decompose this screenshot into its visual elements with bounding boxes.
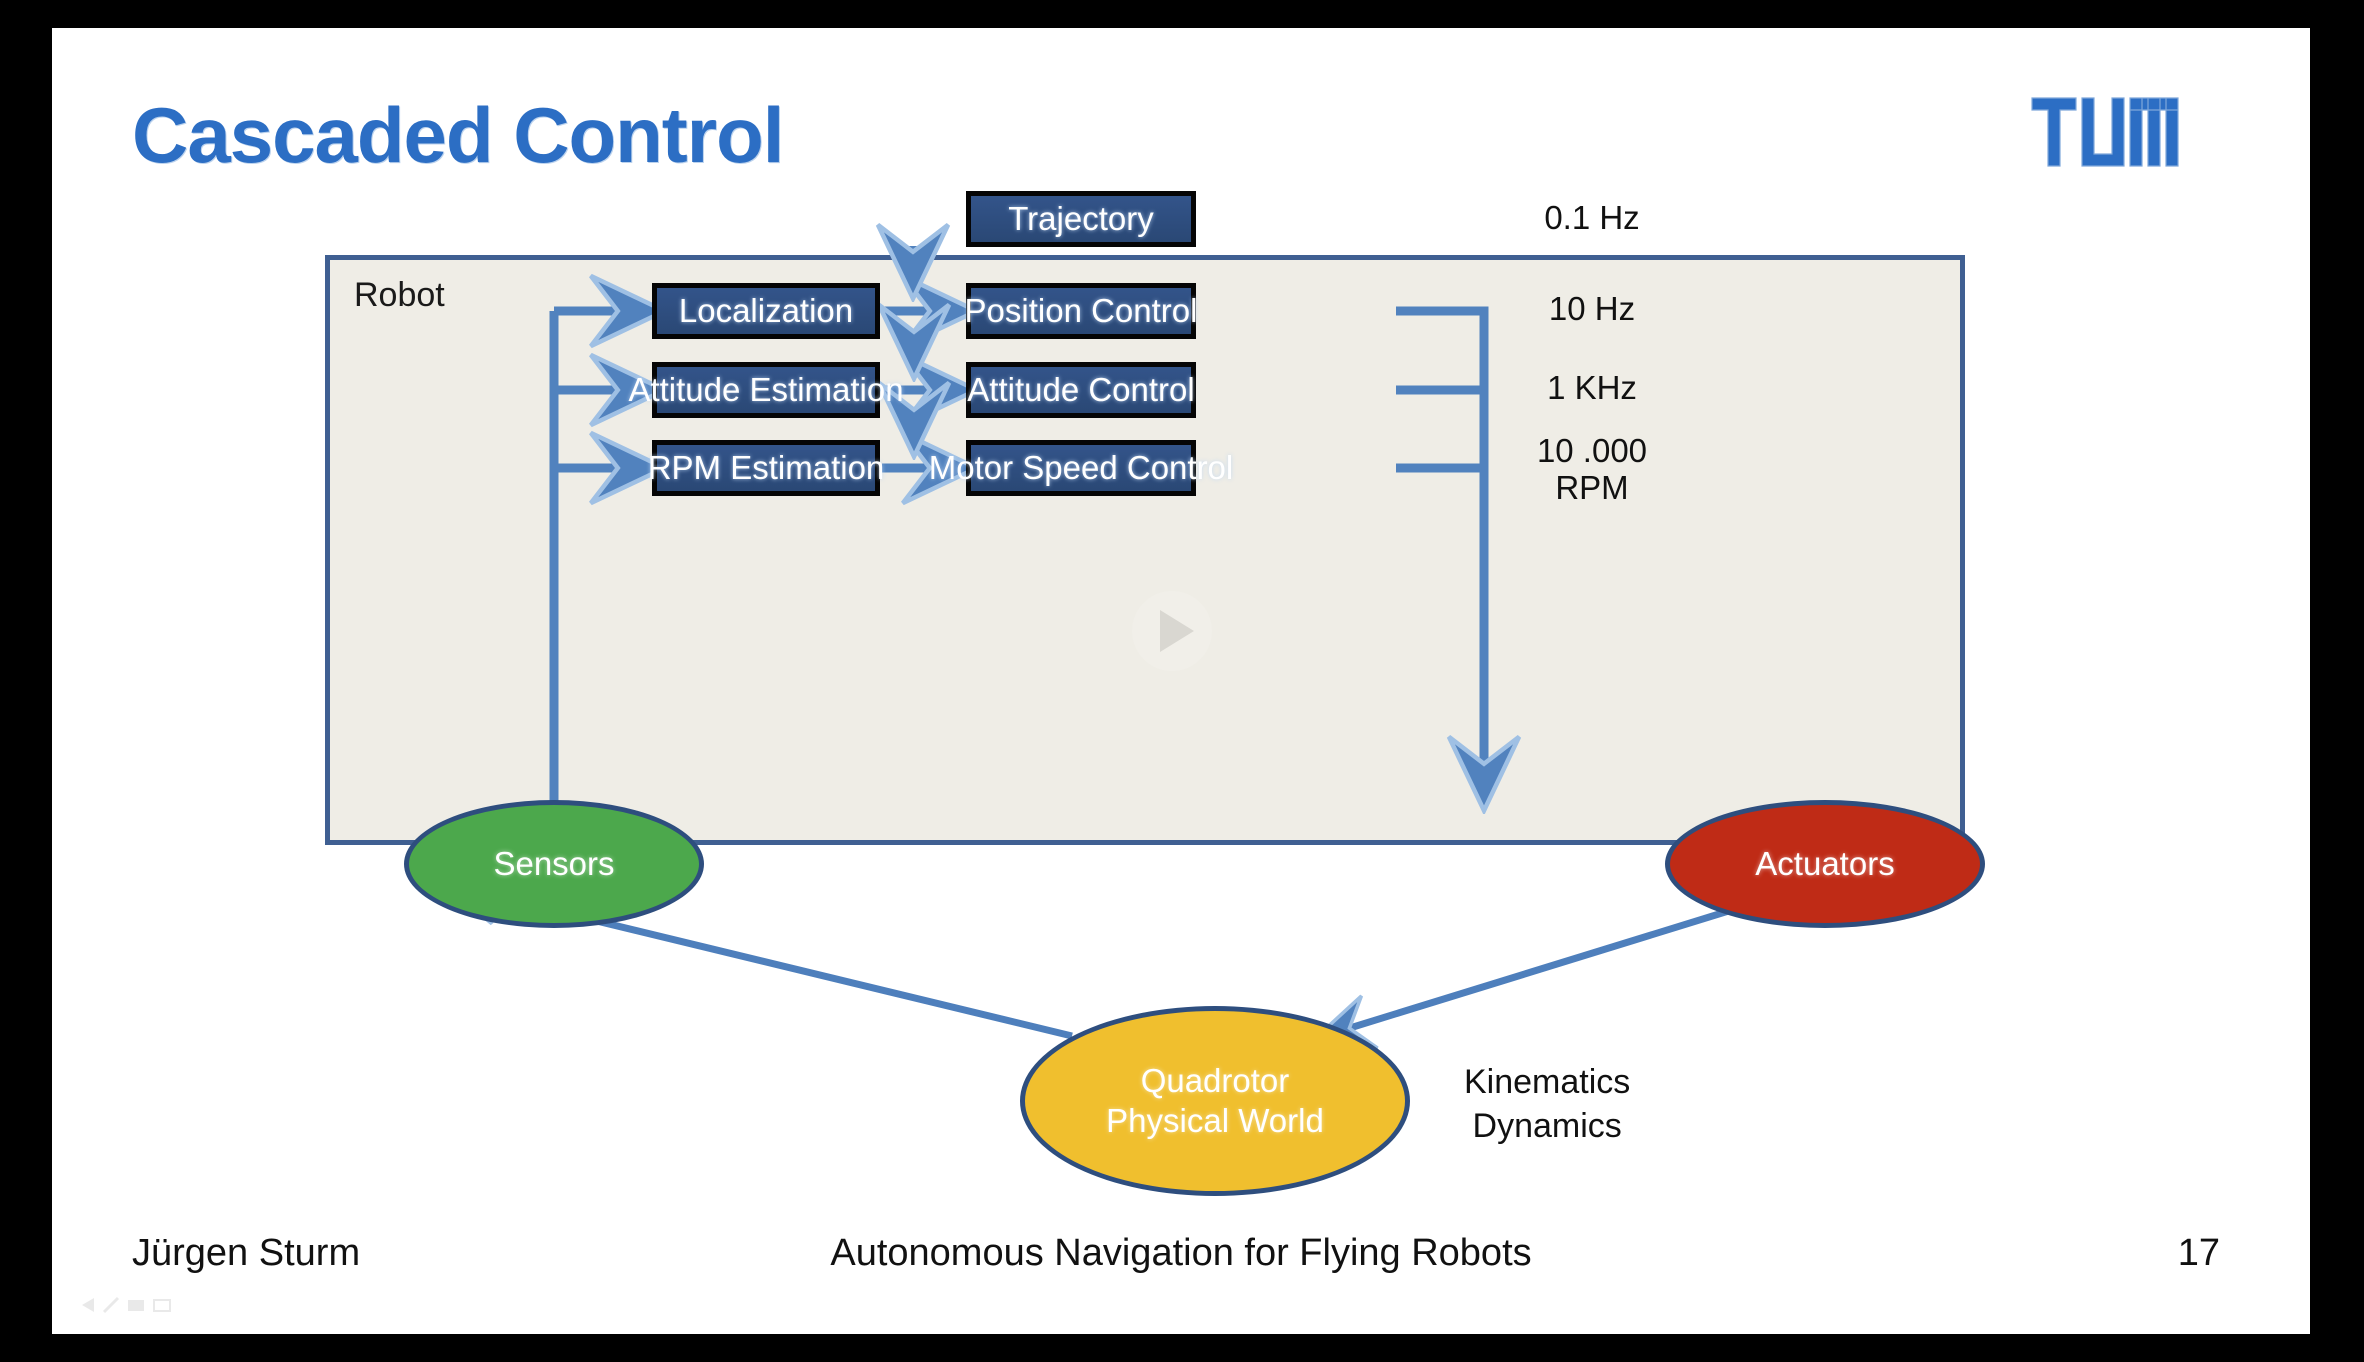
player-controls-ghost-icon xyxy=(80,1294,200,1316)
footer-page-number: 17 xyxy=(2178,1232,2220,1275)
process-box-label: Attitude Control xyxy=(967,371,1194,409)
process-box-label: Trajectory xyxy=(1008,200,1153,238)
process-box-label: Position Control xyxy=(965,292,1198,330)
process-box-trajectory[interactable]: Trajectory xyxy=(966,191,1196,247)
process-box-label: Localization xyxy=(679,292,853,330)
rate-label-trajectory: 0.1 Hz xyxy=(1502,200,1682,237)
footer: Jürgen Sturm Autonomous Navigation for F… xyxy=(52,1232,2310,1282)
rate-label-position: 10 Hz xyxy=(1502,291,1682,328)
play-button-ghost-icon xyxy=(1112,588,1232,674)
footer-author: Jürgen Sturm xyxy=(132,1232,360,1275)
process-box-label: Motor Speed Control xyxy=(929,449,1234,487)
robot-container-label: Robot xyxy=(354,276,445,315)
node-actuators-label: Actuators xyxy=(1755,844,1894,884)
process-box-localization[interactable]: Localization xyxy=(652,283,880,339)
process-box-motor-speed-control[interactable]: Motor Speed Control xyxy=(966,440,1196,496)
rate-label-motor: 10 .000 RPM xyxy=(1502,433,1682,507)
process-box-attitude-estimation[interactable]: Attitude Estimation xyxy=(652,362,880,418)
robot-container: Robot xyxy=(325,255,1965,845)
process-box-position-control[interactable]: Position Control xyxy=(966,283,1196,339)
process-box-rpm-estimation[interactable]: RPM Estimation xyxy=(652,440,880,496)
node-sensors-label: Sensors xyxy=(493,844,614,884)
process-box-label: RPM Estimation xyxy=(648,449,885,487)
node-quadrotor-label: Quadrotor Physical World xyxy=(1106,1061,1324,1140)
process-box-label: Attitude Estimation xyxy=(628,371,903,409)
tum-logo xyxy=(2030,96,2198,168)
node-actuators[interactable]: Actuators xyxy=(1665,800,1985,928)
page-title: Cascaded Control xyxy=(132,90,783,181)
slide-canvas: Cascaded Control Robot xyxy=(52,28,2310,1334)
kinematics-dynamics-annotation: Kinematics Dynamics xyxy=(1464,1061,1630,1148)
footer-course-title: Autonomous Navigation for Flying Robots xyxy=(830,1232,1531,1275)
process-box-attitude-control[interactable]: Attitude Control xyxy=(966,362,1196,418)
node-sensors[interactable]: Sensors xyxy=(404,800,704,928)
node-quadrotor[interactable]: Quadrotor Physical World xyxy=(1020,1006,1410,1196)
rate-label-attitude: 1 KHz xyxy=(1502,370,1682,407)
